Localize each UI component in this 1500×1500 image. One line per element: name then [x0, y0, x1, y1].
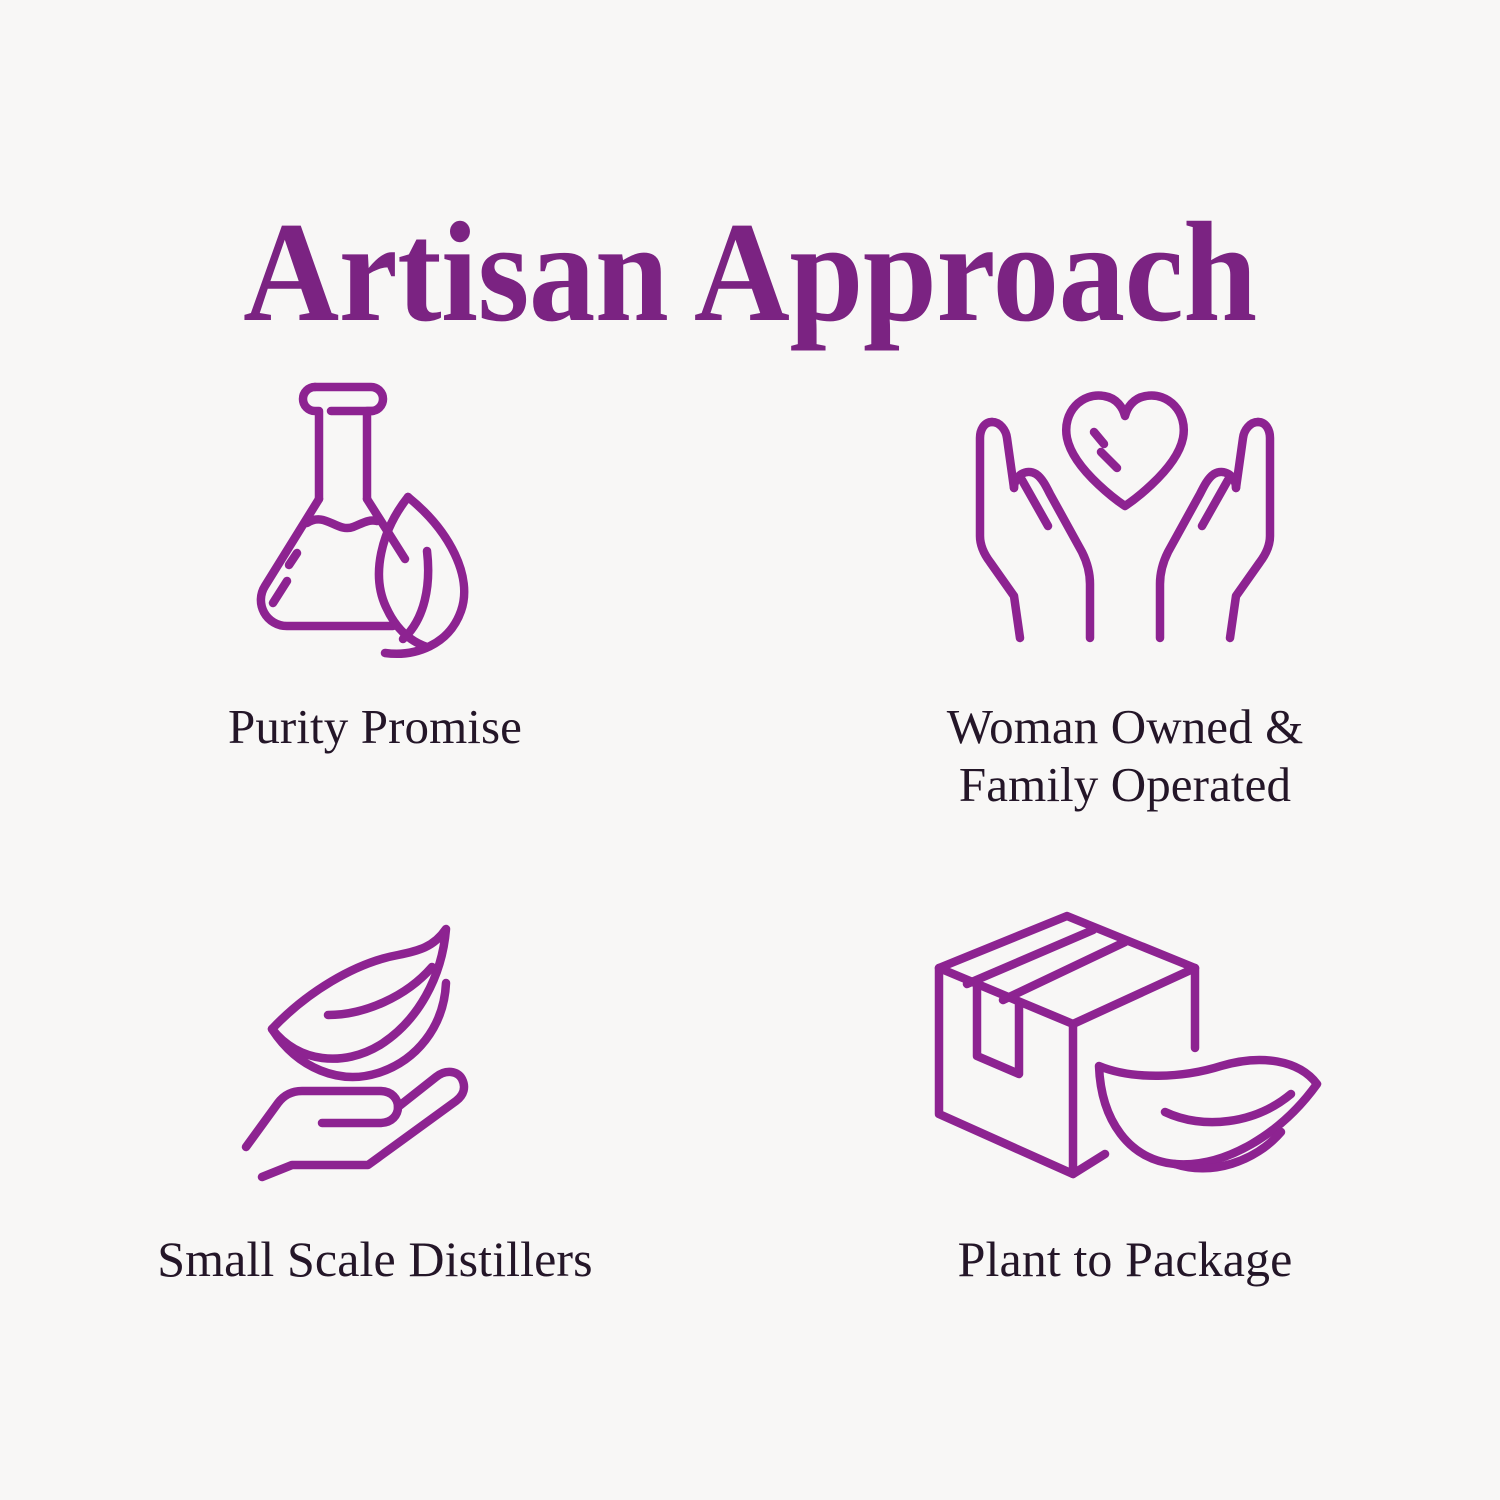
feature-label-small-scale-distillers: Small Scale Distillers [157, 1230, 592, 1289]
feature-label-woman-owned: Woman Owned & Family Operated [947, 698, 1304, 814]
flask-leaf-icon-container [245, 356, 505, 676]
feature-grid: Purity Promise [0, 350, 1500, 1430]
hand-holding-leaf-icon [240, 911, 510, 1181]
feature-item-woman-owned: Woman Owned & Family Operated [750, 350, 1500, 890]
hands-holding-heart-icon [970, 376, 1280, 656]
feature-label-purity-promise: Purity Promise [228, 698, 522, 756]
box-leaf-icon [925, 906, 1325, 1186]
feature-item-purity-promise: Purity Promise [0, 350, 750, 890]
artisan-approach-panel: Artisan Approach [0, 0, 1500, 1500]
hand-holding-leaf-icon-container [240, 896, 510, 1196]
feature-label-plant-to-package: Plant to Package [958, 1230, 1293, 1289]
feature-item-small-scale-distillers: Small Scale Distillers [0, 890, 750, 1430]
page-title: Artisan Approach [243, 200, 1257, 346]
feature-item-plant-to-package: Plant to Package [750, 890, 1500, 1430]
hands-holding-heart-icon-container [970, 356, 1280, 676]
flask-leaf-icon [245, 371, 505, 661]
box-leaf-icon-container [925, 896, 1325, 1196]
